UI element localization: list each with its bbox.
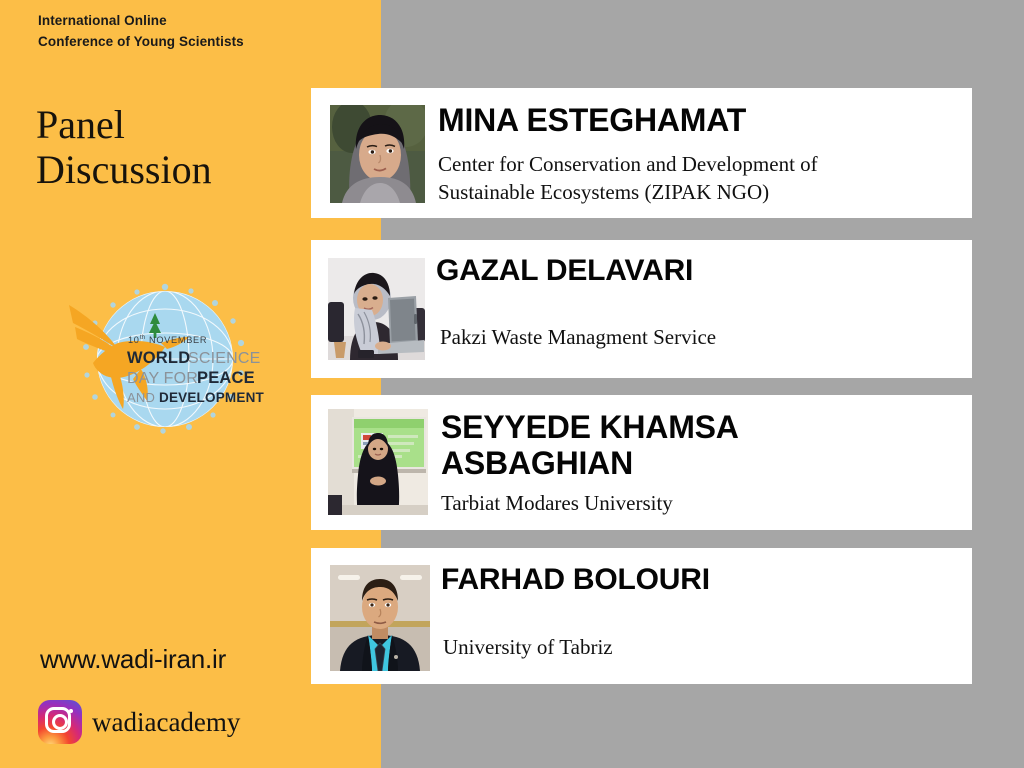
speaker-card[interactable]: FARHAD BOLOURI University of Tabriz [311,548,972,684]
svg-text:NOVEMBER: NOVEMBER [149,335,207,345]
svg-text:th: th [140,335,145,341]
speaker-photo [328,258,425,360]
svg-text:PEACE: PEACE [197,369,255,387]
conference-header: International Online Conference of Young… [38,11,358,52]
speaker-name: SEYYEDE KHAMSA ASBAGHIAN [441,409,972,482]
speaker-affiliation-line1: Center for Conservation and Development … [438,152,818,176]
speaker-affiliation: University of Tabriz [441,634,972,662]
instagram-row[interactable]: wadiacademy [38,700,240,744]
instagram-handle[interactable]: wadiacademy [92,707,240,738]
speaker-card[interactable]: MINA ESTEGHAMAT Center for Conservation … [311,88,972,218]
panel-discussion-poster: International Online Conference of Young… [0,0,1024,768]
website-url[interactable]: www.wadi-iran.ir [40,644,226,675]
speaker-affiliation: Center for Conservation and Development … [438,151,972,207]
speaker-info: FARHAD BOLOURI University of Tabriz [430,548,972,662]
speaker-photo [330,565,430,671]
instagram-dot-shape [69,709,73,713]
instagram-icon[interactable] [38,700,82,744]
speaker-name-line2: ASBAGHIAN [441,445,633,481]
svg-text:SCIENCE: SCIENCE [188,350,261,367]
speaker-name: GAZAL DELAVARI [436,256,972,286]
speaker-info: SEYYEDE KHAMSA ASBAGHIAN Tarbiat Modares… [428,395,972,518]
speaker-name: FARHAD BOLOURI [441,565,972,595]
speaker-affiliation-line2: Sustainable Ecosystems (ZIPAK NGO) [438,180,769,204]
speaker-card[interactable]: GAZAL DELAVARI Pakzi Waste Managment Ser… [311,240,972,378]
speaker-photo [330,105,425,203]
svg-text:10: 10 [128,335,139,345]
speaker-photo [328,409,428,515]
speaker-name: MINA ESTEGHAMAT [438,104,972,136]
speaker-card[interactable]: SEYYEDE KHAMSA ASBAGHIAN Tarbiat Modares… [311,395,972,530]
speaker-affiliation: Tarbiat Modares University [441,490,972,518]
svg-text:AND: AND [127,390,155,405]
conference-header-line1: International Online [38,11,358,32]
speaker-name-line1: SEYYEDE KHAMSA [441,409,739,445]
svg-text:WORLD: WORLD [127,349,190,367]
world-science-day-logo: 10 th NOVEMBER WORLD SCIENCE DAY FOR PEA… [55,281,267,439]
svg-text:DEVELOPMENT: DEVELOPMENT [159,390,265,405]
speaker-affiliation: Pakzi Waste Managment Service [436,324,972,352]
conference-header-line2: Conference of Young Scientists [38,32,358,53]
instagram-lens-shape [52,714,68,730]
svg-text:DAY FOR: DAY FOR [127,370,198,387]
speaker-info: GAZAL DELAVARI Pakzi Waste Managment Ser… [425,240,972,352]
speaker-info: MINA ESTEGHAMAT Center for Conservation … [425,88,972,207]
